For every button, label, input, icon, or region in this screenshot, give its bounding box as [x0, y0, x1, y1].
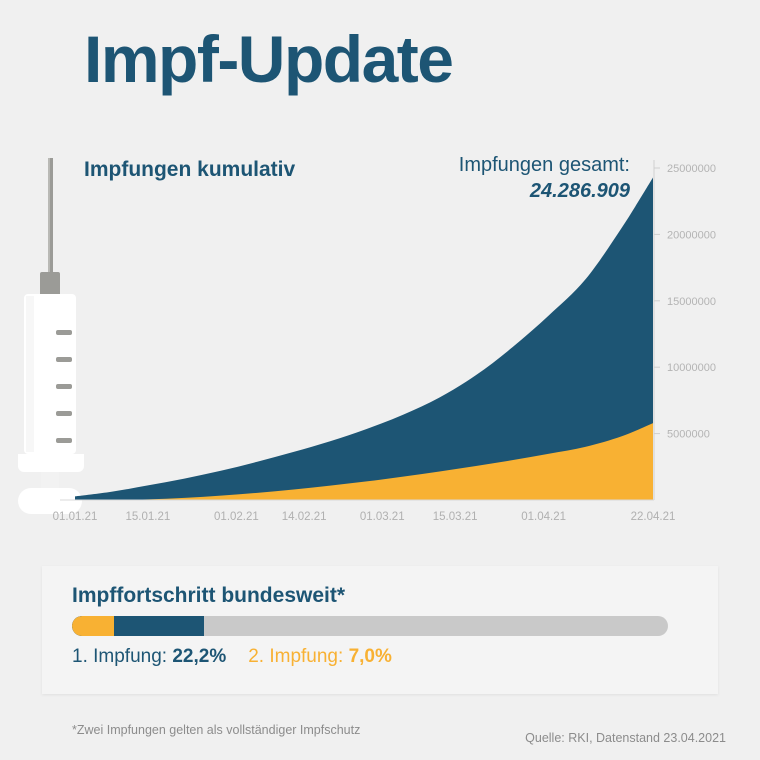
y-axis-ticks: 250000002000000015000000100000005000000 [654, 163, 716, 441]
progress-card: Impffortschritt bundesweit* 1. Impfung: … [42, 566, 718, 694]
page-title: Impf-Update [84, 26, 452, 92]
x-tick-label: 14.02.21 [282, 511, 327, 523]
legend-second-dose: 2. Impfung: 7,0% [248, 646, 392, 667]
x-tick-label: 15.01.21 [126, 511, 171, 523]
x-tick-label: 01.01.21 [53, 511, 98, 523]
cumulative-vaccination-chart: Impfungen kumulativ Impfungen gesamt: 24… [0, 140, 760, 530]
x-tick-label: 22.04.21 [631, 511, 676, 523]
x-axis-ticks: 01.01.2115.01.2101.02.2114.02.2101.03.21… [53, 511, 676, 523]
y-tick-label: 25000000 [667, 163, 716, 175]
chart-svg: 250000002000000015000000100000005000000 … [0, 140, 760, 530]
progress-card-title: Impffortschritt bundesweit* [72, 584, 345, 608]
progress-bar-track [72, 616, 668, 636]
x-tick-label: 01.03.21 [360, 511, 405, 523]
progress-legend: 1. Impfung: 22,2%2. Impfung: 7,0% [72, 646, 392, 668]
y-tick-label: 15000000 [667, 296, 716, 308]
source-note: Quelle: RKI, Datenstand 23.04.2021 [525, 731, 726, 745]
x-tick-label: 01.04.21 [521, 511, 566, 523]
legend-second-dose-label: 2. Impfung: [248, 646, 343, 667]
footnote: *Zwei Impfungen gelten als vollständiger… [72, 723, 360, 737]
x-tick-label: 15.03.21 [433, 511, 478, 523]
chart-areas [75, 177, 653, 500]
legend-first-dose: 1. Impfung: 22,2% [72, 646, 226, 667]
legend-second-dose-value: 7,0% [349, 646, 392, 667]
y-tick-label: 5000000 [667, 429, 710, 441]
y-tick-label: 20000000 [667, 229, 716, 241]
x-tick-label: 01.02.21 [214, 511, 259, 523]
infographic-root: Impf-Update Impfungen kumula [0, 0, 760, 760]
progress-bar-second-dose [72, 616, 114, 636]
legend-first-dose-value: 22,2% [172, 646, 226, 667]
y-tick-label: 10000000 [667, 362, 716, 374]
legend-first-dose-label: 1. Impfung: [72, 646, 167, 667]
